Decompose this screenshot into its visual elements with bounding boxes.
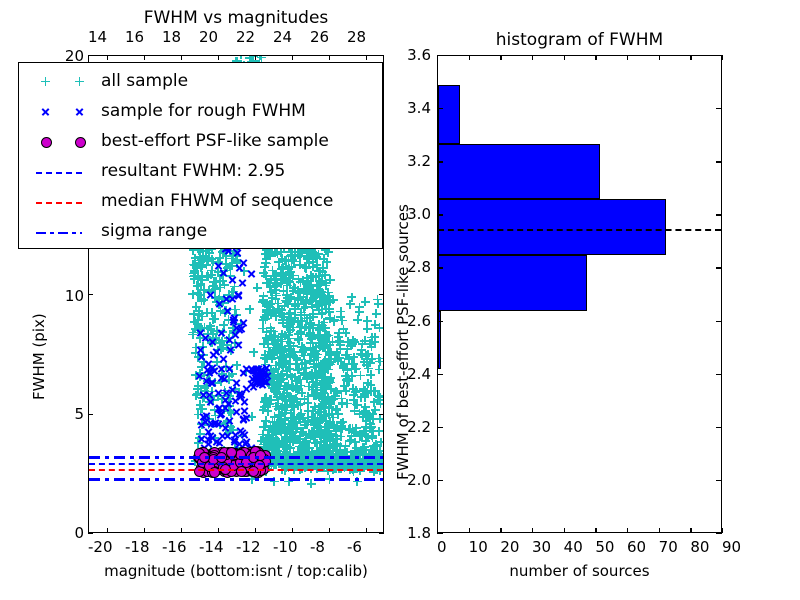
right-ytick: [437, 480, 443, 481]
right-xtick-top: [469, 55, 470, 60]
tick-text: 70: [659, 538, 678, 556]
right-ytick: [437, 161, 443, 162]
right-xtick: [722, 528, 723, 533]
legend-marker-dot-icon: [41, 137, 52, 148]
left-xtick-bottom: [144, 528, 145, 533]
scatter-point: [296, 252, 305, 261]
scatter-point: [255, 379, 265, 389]
left-ytick: [88, 414, 93, 415]
legend-line-dashdot-icon: [36, 232, 82, 234]
right-ytick: [437, 214, 443, 215]
legend-item-label: median FHWM of sequence: [101, 191, 333, 211]
scatter-point: [301, 346, 310, 355]
legend-marker-plus-icon: [41, 77, 50, 86]
right-ytick-right: [716, 374, 722, 375]
right-panel-ylabel: FWHM of best-effort PSF-like sources: [394, 204, 412, 480]
scatter-point: [252, 364, 262, 374]
tick-text: 20: [500, 538, 519, 556]
right-ytick-right: [716, 427, 722, 428]
scatter-point: [261, 368, 271, 378]
legend-line-dashed-icon: [36, 202, 82, 204]
scatter-point: [370, 337, 379, 346]
scatter-point: [375, 323, 383, 332]
scatter-point: [234, 340, 244, 350]
scatter-point: [374, 391, 383, 400]
reference-line-median-fhwm-of-sequence: [89, 469, 383, 471]
right-ytick: [437, 108, 443, 109]
scatter-point: [312, 439, 321, 448]
scatter-point: [286, 308, 295, 317]
scatter-point: [356, 371, 365, 380]
right-ytick-label: 2.2: [391, 418, 431, 436]
left-panel-ylabel: FWHM (pix): [30, 313, 48, 400]
right-xtick-top: [595, 55, 596, 60]
scatter-point: [318, 300, 327, 309]
scatter-point: [348, 424, 357, 433]
scatter-point: [256, 56, 265, 60]
tick-text: 90: [722, 538, 741, 556]
tick-text: 0: [437, 538, 447, 556]
scatter-point: [270, 331, 279, 340]
scatter-point: [199, 412, 209, 422]
right-ytick-label: 3.6: [391, 46, 431, 64]
right-xtick-top: [722, 55, 723, 60]
scatter-point: [237, 390, 247, 400]
right-xtick-top: [627, 55, 628, 60]
scatter-point: [194, 307, 203, 316]
scatter-point: [325, 443, 334, 452]
legend-item[interactable]: median FHWM of sequence: [19, 187, 382, 218]
legend-line-dashed-icon: [36, 172, 82, 174]
scatter-point: [366, 445, 375, 454]
right-ytick-label: 2.8: [391, 258, 431, 276]
right-ytick-label: 1.8: [391, 524, 431, 542]
legend-marker-cross-icon: [41, 107, 50, 116]
scatter-point: [284, 273, 293, 282]
scatter-point: [242, 414, 252, 424]
scatter-point: [349, 396, 358, 405]
left-xtick-bottom: [218, 528, 219, 533]
scatter-point: [240, 430, 250, 440]
scatter-point: [271, 289, 280, 298]
scatter-point: [302, 286, 311, 295]
legend-item[interactable]: resultant FWHM: 2.95: [19, 157, 382, 188]
scatter-point: [339, 362, 348, 371]
scatter-point: [263, 407, 272, 416]
histogram-bar: [438, 255, 587, 311]
scatter-point: [314, 339, 323, 348]
scatter-point: [209, 351, 219, 361]
histogram-reference-line: [438, 229, 721, 231]
legend-item-label: all sample: [101, 71, 188, 91]
scatter-point: [217, 365, 227, 375]
scatter-point: [336, 419, 345, 428]
scatter-point: [235, 325, 245, 335]
scatter-point: [205, 390, 215, 400]
scatter-point: [272, 387, 281, 396]
histogram-bar: [438, 85, 460, 143]
scatter-point: [300, 420, 309, 429]
scatter-point: [313, 409, 322, 418]
left-xtick-bottom: [107, 528, 108, 533]
right-ytick-right: [716, 55, 722, 56]
scatter-point: [315, 286, 324, 295]
scatter-point: [278, 318, 287, 327]
scatter-point: [321, 270, 330, 279]
scatter-point: [310, 353, 319, 362]
left-ytick-right: [379, 533, 384, 534]
scatter-point: [294, 336, 303, 345]
scatter-point: [339, 325, 348, 334]
scatter-point: [214, 419, 224, 429]
reference-line-sigma-range-upper: [89, 456, 383, 458]
scatter-point: [286, 437, 295, 446]
right-xtick: [627, 528, 628, 533]
right-xtick: [500, 528, 501, 533]
right-xtick-top: [532, 55, 533, 60]
histogram-bar: [438, 144, 600, 200]
scatter-point: [349, 336, 358, 345]
right-ytick: [437, 427, 443, 428]
scatter-point: [264, 351, 273, 360]
scatter-point: [375, 365, 383, 374]
scatter-point: [275, 373, 284, 382]
scatter-point: [307, 479, 316, 488]
legend-item[interactable]: sample for rough FWHM: [19, 97, 382, 128]
scatter-point: [293, 386, 302, 395]
right-ytick-label: 3.0: [391, 205, 431, 223]
right-xtick: [469, 528, 470, 533]
scatter-point: [205, 369, 215, 379]
right-xtick-top: [690, 55, 691, 60]
scatter-point: [197, 295, 206, 304]
scatter-point: [206, 290, 216, 300]
tick-text: 50: [595, 538, 614, 556]
scatter-point: [277, 360, 286, 369]
scatter-point: [343, 344, 352, 353]
left-xtick-bottom: [292, 528, 293, 533]
scatter-point: [338, 398, 347, 407]
left-ytick-right: [379, 414, 384, 415]
left-xtick-top: [255, 55, 256, 60]
scatter-point: [292, 354, 301, 363]
right-ytick-right: [716, 533, 722, 534]
right-ytick: [437, 321, 443, 322]
scatter-point: [233, 249, 243, 259]
left-ytick-right: [379, 294, 384, 295]
reference-line-resultant-fwhm: [89, 463, 383, 465]
scatter-point: [335, 353, 344, 362]
left-xtick-top: [292, 55, 293, 60]
scatter-point: [274, 258, 283, 267]
scatter-point: [300, 311, 309, 320]
scatter-point: [304, 429, 313, 438]
right-xtick: [564, 528, 565, 533]
scatter-point: [270, 340, 279, 349]
scatter-point: [367, 422, 376, 431]
right-ytick-right: [716, 108, 722, 109]
right-ytick-label: 3.4: [391, 99, 431, 117]
scatter-point: [266, 275, 275, 284]
right-ytick-label: 2.0: [391, 471, 431, 489]
left-xtick-top: [181, 55, 182, 60]
right-xtick-top: [500, 55, 501, 60]
right-ytick-right: [716, 214, 722, 215]
legend-item-label: sigma range: [101, 221, 207, 241]
right-panel-title: histogram of FWHM: [437, 30, 722, 50]
left-y-tick-5: 5: [62, 405, 84, 423]
legend-item[interactable]: sigma range: [19, 217, 382, 248]
scatter-point: [301, 364, 310, 373]
scatter-point: [264, 430, 273, 439]
tick-text: 60: [627, 538, 646, 556]
left-xtick-top: [218, 55, 219, 60]
right-ytick-label: 2.6: [391, 312, 431, 330]
left-xtick-top: [366, 55, 367, 60]
scatter-point: [314, 320, 323, 329]
right-ytick-label: 3.2: [391, 152, 431, 170]
left-ytick: [88, 533, 93, 534]
scatter-point: [193, 319, 202, 328]
scatter-point: [375, 354, 383, 363]
legend-item[interactable]: all sample: [19, 67, 382, 98]
scatter-point: [280, 400, 289, 409]
right-xtick: [595, 528, 596, 533]
scatter-point: [311, 251, 320, 260]
left-xtick-bottom: [255, 528, 256, 533]
right-ytick-label: 2.4: [391, 365, 431, 383]
right-ytick: [437, 374, 443, 375]
scatter-point: [349, 359, 358, 368]
left-y-tick-0: 0: [62, 524, 84, 542]
left-panel-xlabel: magnitude (bottom:isnt / top:calib): [88, 562, 384, 580]
scatter-point: [284, 256, 293, 265]
scatter-point: [245, 305, 254, 314]
scatter-point: [261, 299, 270, 308]
left-xtick-top: [329, 55, 330, 60]
scatter-point: [355, 303, 364, 312]
right-xtick: [532, 528, 533, 533]
reference-line-sigma-range-lower: [89, 478, 383, 480]
scatter-point: [293, 295, 302, 304]
scatter-point: [196, 328, 206, 338]
scatter-point: [235, 264, 245, 274]
tick-text: 40: [564, 538, 583, 556]
scatter-point: [288, 373, 297, 382]
legend: all samplesample for rough FWHMbest-effo…: [18, 62, 383, 249]
right-ytick-right: [716, 161, 722, 162]
legend-item-label: resultant FWHM: 2.95: [101, 161, 285, 181]
scatter-point: [207, 379, 217, 389]
scatter-point: [190, 260, 199, 269]
scatter-point: [222, 295, 232, 305]
right-panel-xlabel: number of sources: [437, 562, 722, 580]
legend-item[interactable]: best-effort PSF-like sample: [19, 127, 382, 158]
scatter-point: [197, 276, 206, 285]
scatter-point: [316, 401, 325, 410]
scatter-point: [261, 249, 270, 258]
scatter-point: [322, 422, 331, 431]
right-panel-plot-area: [437, 55, 722, 533]
scatter-point: [248, 466, 259, 477]
scatter-point: [290, 413, 299, 422]
scatter-point: [219, 355, 229, 365]
scatter-point: [216, 411, 226, 421]
scatter-point: [374, 299, 383, 308]
histogram-bar: [438, 199, 666, 255]
right-ytick-right: [716, 267, 722, 268]
scatter-point: [359, 384, 368, 393]
legend-item-label: sample for rough FWHM: [101, 101, 306, 121]
left-ytick: [88, 55, 93, 56]
right-xtick-top: [564, 55, 565, 60]
scatter-point: [220, 375, 230, 385]
scatter-point: [361, 431, 370, 440]
scatter-point: [277, 427, 286, 436]
scatter-point: [209, 277, 218, 286]
scatter-point: [196, 346, 206, 356]
scatter-point: [325, 410, 334, 419]
scatter-point: [344, 377, 353, 386]
scatter-point: [266, 422, 275, 431]
legend-marker-dot-icon: [75, 137, 86, 148]
scatter-point: [308, 300, 317, 309]
legend-marker-plus-icon: [75, 77, 84, 86]
right-xtick: [659, 528, 660, 533]
left-panel-title: FWHM vs magnitudes: [88, 8, 384, 28]
scatter-point: [325, 341, 334, 350]
scatter-point: [372, 309, 381, 318]
scatter-point: [263, 398, 272, 407]
scatter-point: [363, 324, 372, 333]
scatter-point: [283, 384, 292, 393]
scatter-point: [364, 364, 373, 373]
scatter-point: [350, 406, 359, 415]
left-ytick: [88, 294, 93, 295]
right-ytick-right: [716, 321, 722, 322]
scatter-point: [312, 391, 321, 400]
tick-text: 10: [469, 538, 488, 556]
scatter-point: [237, 56, 246, 59]
right-ytick-right: [716, 480, 722, 481]
scatter-point: [289, 397, 298, 406]
right-ytick: [437, 55, 443, 56]
scatter-point: [209, 315, 218, 324]
scatter-point: [280, 416, 289, 425]
scatter-point: [208, 338, 218, 348]
scatter-point: [346, 300, 355, 309]
scatter-point: [302, 374, 311, 383]
figure-canvas: FWHM vs magnitudes 14 16 18 20 22 24 26 …: [0, 0, 800, 600]
scatter-point: [356, 349, 365, 358]
scatter-point: [212, 437, 222, 447]
left-ytick-right: [379, 55, 384, 56]
scatter-point: [319, 377, 328, 386]
tick-text: 30: [532, 538, 551, 556]
histogram-bars-layer: [438, 56, 721, 532]
scatter-point: [249, 348, 258, 357]
right-xtick: [690, 528, 691, 533]
scatter-point: [247, 270, 257, 280]
scatter-point: [297, 443, 306, 452]
scatter-point: [306, 271, 315, 280]
right-xtick-top: [659, 55, 660, 60]
tick-text: 80: [690, 538, 709, 556]
left-y-tick-10: 10: [52, 287, 84, 305]
scatter-point: [325, 355, 334, 364]
legend-marker-cross-icon: [75, 107, 84, 116]
legend-item-label: best-effort PSF-like sample: [101, 131, 329, 151]
right-ytick: [437, 533, 443, 534]
scatter-point: [277, 305, 286, 314]
scatter-point: [353, 315, 362, 324]
scatter-point: [300, 324, 309, 333]
left-xtick-top: [144, 55, 145, 60]
left-xtick-bottom: [181, 528, 182, 533]
scatter-point: [263, 308, 272, 317]
right-ytick: [437, 267, 443, 268]
left-xtick-bottom: [329, 528, 330, 533]
left-xtick-bottom: [366, 528, 367, 533]
scatter-point: [329, 317, 338, 326]
left-xtick-top: [107, 55, 108, 60]
